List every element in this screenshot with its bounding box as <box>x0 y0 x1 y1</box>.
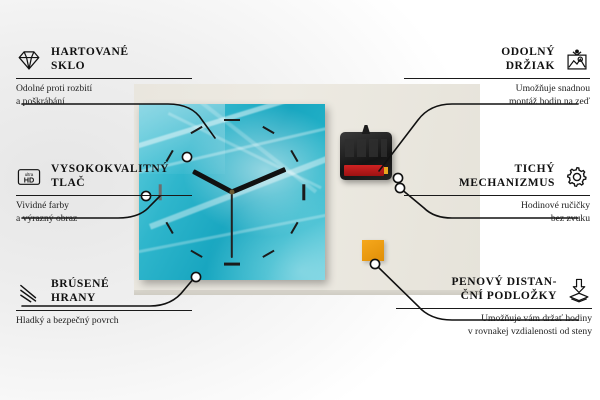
feature-divider <box>16 78 192 79</box>
feature-divider <box>404 195 590 196</box>
clock-tick <box>290 150 298 162</box>
clock-tick <box>224 119 240 122</box>
ultra-hd-icon: ultra HD <box>16 164 42 190</box>
feature-title: VYSOKOKVALITNÝ <box>51 163 169 177</box>
foam-spacer-pad <box>362 240 384 261</box>
feature-divider <box>396 308 592 309</box>
feature-title: HARTOVANÉ <box>51 46 129 60</box>
feature-title: TICHÝ <box>459 163 555 177</box>
feature-title: MECHANIZMUS <box>459 177 555 191</box>
feature-description: a výrazný obraz <box>16 213 192 225</box>
picture-frame-icon <box>564 47 590 73</box>
feature-description: Hodinové ručičky <box>404 200 590 212</box>
feature-description: Umožňuje snadnou <box>404 83 590 95</box>
feature-description: bez zvuku <box>404 213 590 225</box>
feature-description: Umožňuje vám držať hodiny <box>396 313 592 325</box>
feature-description: Vividné farby <box>16 200 192 212</box>
feature-title: PENOVÝ DISTAN- <box>451 276 557 290</box>
feature-title: TLAČ <box>51 177 169 191</box>
clock-second-hand <box>231 192 233 258</box>
clock-center-pin <box>230 190 235 195</box>
feature-polished-edges: BRÚSENÉ HRANY Hladký a bezpečný povrch <box>16 278 192 328</box>
feature-title: ČNÍ PODLOŽKY <box>451 290 557 304</box>
clock-face-highlight <box>205 190 325 280</box>
feature-description: Hladký a bezpečný povrch <box>16 315 192 327</box>
mechanism-body-grid <box>345 139 387 157</box>
feature-description: Odolné proti rozbití <box>16 83 192 95</box>
feature-durable-holder: ODOLNÝ DRŽIAK Umožňuje snadnou montáž ho… <box>404 46 590 108</box>
foam-spacer-icon <box>566 277 592 303</box>
feature-title: ODOLNÝ <box>501 46 555 60</box>
svg-text:HD: HD <box>24 175 35 184</box>
feature-foam-spacers: PENOVÝ DISTAN- ČNÍ PODLOŽKY Umožňuje vám… <box>396 276 592 338</box>
feature-silent-mechanism: TICHÝ MECHANIZMUS Hodinové ručičky bez z… <box>404 163 590 225</box>
clock-tick <box>190 250 202 258</box>
diamond-icon <box>16 47 42 73</box>
feature-title: HRANY <box>51 292 109 306</box>
clock-tick <box>303 184 306 200</box>
feature-description: montáž hodin na zeď <box>404 96 590 108</box>
feature-title: BRÚSENÉ <box>51 278 109 292</box>
feature-divider <box>16 310 192 311</box>
clock-mechanism <box>340 132 392 180</box>
polished-edges-icon <box>16 279 42 305</box>
feature-tempered-glass: HARTOVANÉ SKLO Odolné proti rozbití a po… <box>16 46 192 108</box>
feature-title: DRŽIAK <box>501 60 555 74</box>
gear-icon <box>564 164 590 190</box>
feature-description: a poškrábání <box>16 96 192 108</box>
feature-divider <box>404 78 590 79</box>
clock-tick <box>262 126 274 134</box>
clock-tick <box>224 263 240 266</box>
feature-high-quality-print: ultra HD VYSOKOKVALITNÝ TLAČ Vividné far… <box>16 163 192 225</box>
feature-description: v rovnakej vzdialenosti od steny <box>396 326 592 338</box>
feature-title: SKLO <box>51 60 129 74</box>
feature-divider <box>16 195 192 196</box>
mechanism-battery <box>344 165 384 176</box>
